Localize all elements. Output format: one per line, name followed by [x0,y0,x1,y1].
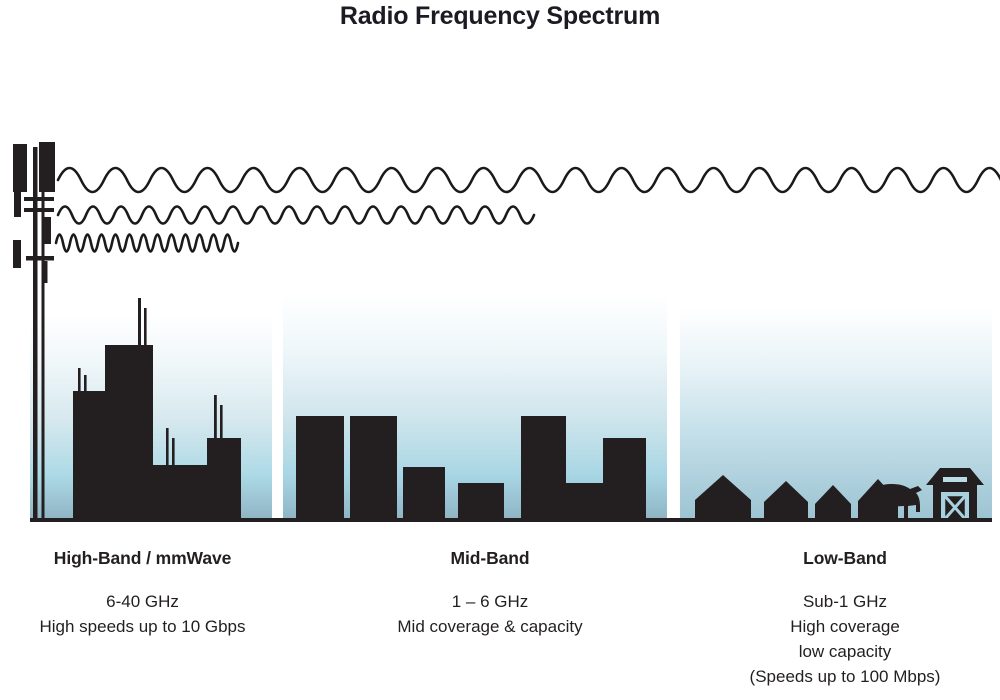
tower-crossarm-2 [24,208,54,212]
mid-band-wave-path [58,207,534,224]
tower-crossarm-1 [24,197,54,201]
building [73,391,105,520]
band-low-line-3: low capacity [700,639,990,664]
band-high-line-2: High speeds up to 10 Gbps [0,614,285,639]
building [105,345,153,520]
radio-frequency-spectrum-infographic: Radio Frequency Spectrum [0,0,1000,700]
building [153,465,161,520]
low-band-wave-path [58,168,1000,192]
building [403,467,445,520]
building [161,465,207,520]
building [603,438,646,520]
band-mid-line-2: Mid coverage & capacity [355,614,625,639]
band-high-line-1: 6-40 GHz [0,589,285,614]
wave-group [56,168,1000,252]
band-low-line-2: High coverage [700,614,990,639]
band-mid-line-1: 1 – 6 GHz [355,589,625,614]
antenna-panel-small-1 [14,189,21,217]
antenna-panel-small-3 [13,240,21,268]
antenna-panel-small-2 [43,217,51,244]
tower-crossarm-3 [26,256,54,261]
building [458,483,504,520]
band-label-high: High-Band / mmWave [0,548,285,569]
barn-icon [926,468,984,520]
building [207,438,241,520]
band-description-mid: 1 – 6 GHz Mid coverage & capacity [355,589,625,639]
page-title: Radio Frequency Spectrum [0,2,1000,31]
antenna-panel-left [13,144,27,192]
band-label-low: Low-Band [700,548,990,569]
tower-stub [44,261,48,283]
spectrum-scene [0,120,1000,530]
band-description-high: 6-40 GHz High speeds up to 10 Gbps [0,589,285,639]
building [566,483,603,520]
band-low-line-1: Sub-1 GHz [700,589,990,614]
high-band-wave-path [56,235,238,252]
band-label-mid: Mid-Band [355,548,625,569]
band-description-low: Sub-1 GHz High coverage low capacity (Sp… [700,589,990,689]
building [521,416,566,520]
band-low-line-4: (Speeds up to 100 Mbps) [700,664,990,689]
building [296,416,344,520]
ground-line [30,518,992,522]
antenna-panel-right [39,142,55,192]
building [350,416,397,520]
